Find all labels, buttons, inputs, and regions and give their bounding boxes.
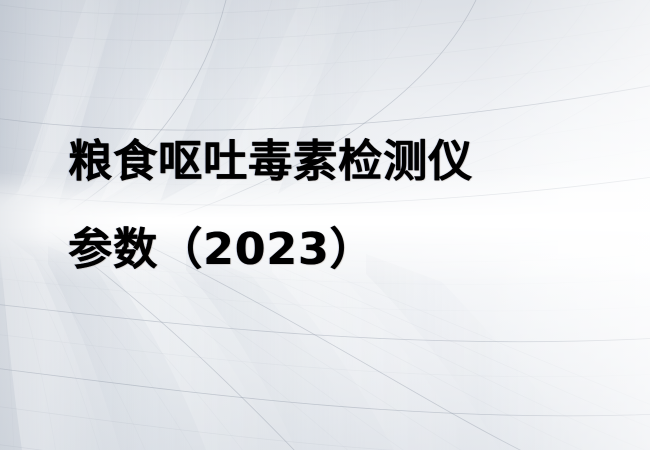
title-line-primary: 粮食呕吐毒素检测仪 xyxy=(68,118,628,206)
title-line-secondary: 参数（2023） xyxy=(68,206,628,294)
page-title: 粮食呕吐毒素检测仪 参数（2023） xyxy=(68,118,628,294)
banner-image: 粮食呕吐毒素检测仪 参数（2023） xyxy=(0,0,650,450)
